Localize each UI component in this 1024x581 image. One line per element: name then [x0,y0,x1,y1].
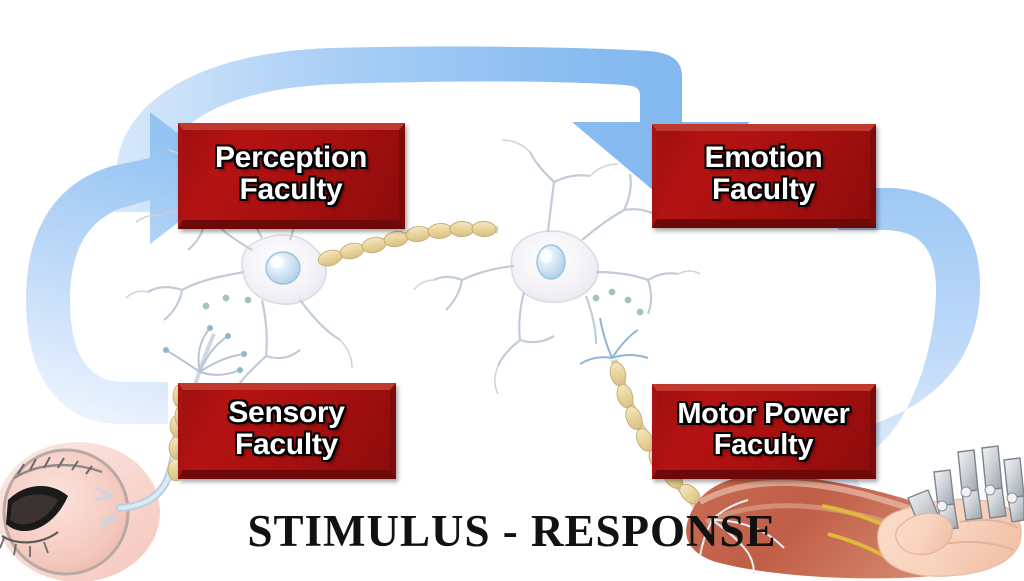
emotion-faculty-box[interactable]: Emotion Faculty [652,124,876,228]
diagram-illustration-layer [0,0,1024,581]
sensory-faculty-label: Sensory Faculty [228,397,344,463]
emotion-faculty-label: Emotion Faculty [705,142,823,208]
motor-power-faculty-box[interactable]: Motor Power Faculty [652,384,876,479]
caption-text: STIMULUS - RESPONSE [247,506,776,556]
perception-faculty-label: Perception Faculty [215,142,367,208]
perception-faculty-box[interactable]: Perception Faculty [178,123,405,229]
motor-power-faculty-label: Motor Power Faculty [677,399,849,462]
diagram-canvas: Perception Faculty Emotion Faculty Senso… [0,0,1024,581]
diagram-caption: STIMULUS - RESPONSE [0,505,1024,557]
sensory-faculty-box[interactable]: Sensory Faculty [178,383,396,479]
